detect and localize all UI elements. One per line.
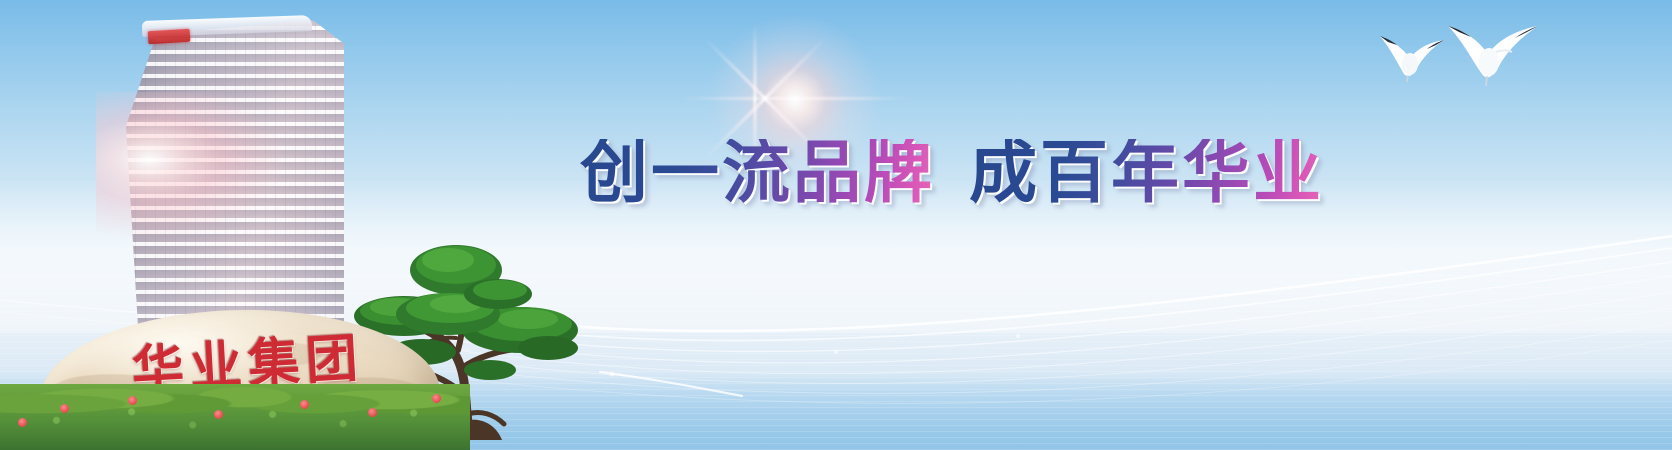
slogan-phrase-1: 创一流品牌 xyxy=(580,139,935,207)
sun-ray-horizontal xyxy=(680,97,910,100)
tower-mullions xyxy=(126,14,344,344)
flower-icon xyxy=(300,400,309,409)
seagull-right-icon xyxy=(1440,4,1550,100)
slogan-phrase-2: 成百年华业 xyxy=(969,139,1324,207)
rooftop-sign xyxy=(148,29,191,45)
high-rise-building xyxy=(126,14,344,344)
flower-icon xyxy=(60,404,69,413)
hedge-foliage-speckle xyxy=(0,384,470,450)
flower-icon xyxy=(368,408,377,417)
hedge-shrubs xyxy=(0,384,470,450)
slogan-banner: 创一流品牌 成百年华业 xyxy=(580,128,1380,218)
flower-icon xyxy=(214,410,223,419)
flower-icon xyxy=(128,396,137,405)
flower-icon xyxy=(18,418,27,427)
hero-banner: 华业集团 创一流品牌 成百年华业 xyxy=(0,0,1672,450)
flower-icon xyxy=(432,394,441,403)
